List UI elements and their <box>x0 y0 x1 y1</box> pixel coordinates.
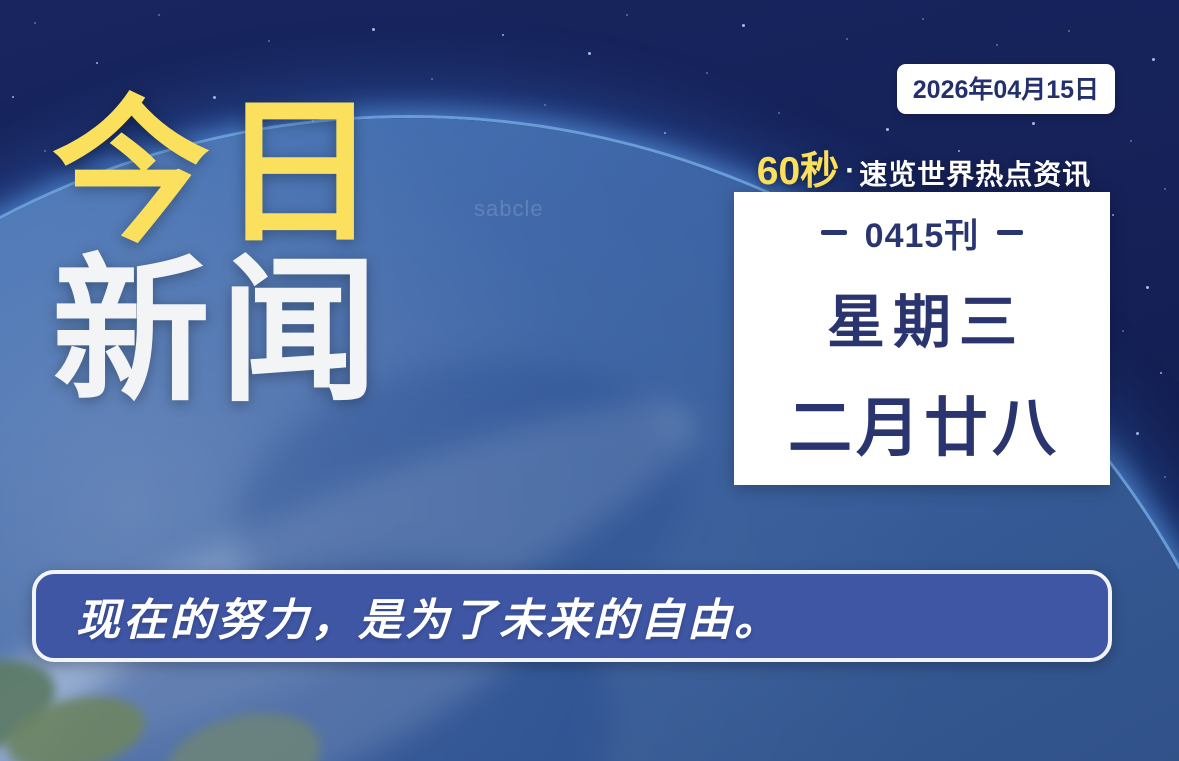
weekday-label: 星期三 <box>819 275 1025 359</box>
title-line-2: 新闻 <box>52 255 482 410</box>
tagline-description: 速览世界热点资讯 <box>859 159 1091 190</box>
issue-info-card: 0415刊 星期三 二月廿八 <box>734 192 1110 485</box>
lunar-date-label: 二月廿八 <box>784 377 1060 469</box>
tagline-separator: · <box>839 154 859 187</box>
issue-number: 0415刊 <box>865 208 980 257</box>
tagline-seconds: 60秒 <box>757 150 839 193</box>
title-line-1: 今日 <box>52 96 482 251</box>
quote-text: 现在的努力，是为了未来的自由。 <box>36 584 781 648</box>
tagline: 60秒·速览世界热点资讯 <box>738 140 1110 196</box>
page-title: 今日 新闻 <box>52 96 482 410</box>
quote-bar: 现在的努力，是为了未来的自由。 <box>32 570 1112 662</box>
date-badge: 2026年04月15日 <box>897 64 1115 114</box>
news-poster: sabcle 今日 新闻 2026年04月15日 60秒·速览世界热点资讯 04… <box>0 0 1179 761</box>
issue-row: 0415刊 <box>821 208 1024 257</box>
dash-left-icon <box>821 230 847 235</box>
dash-right-icon <box>997 230 1023 235</box>
